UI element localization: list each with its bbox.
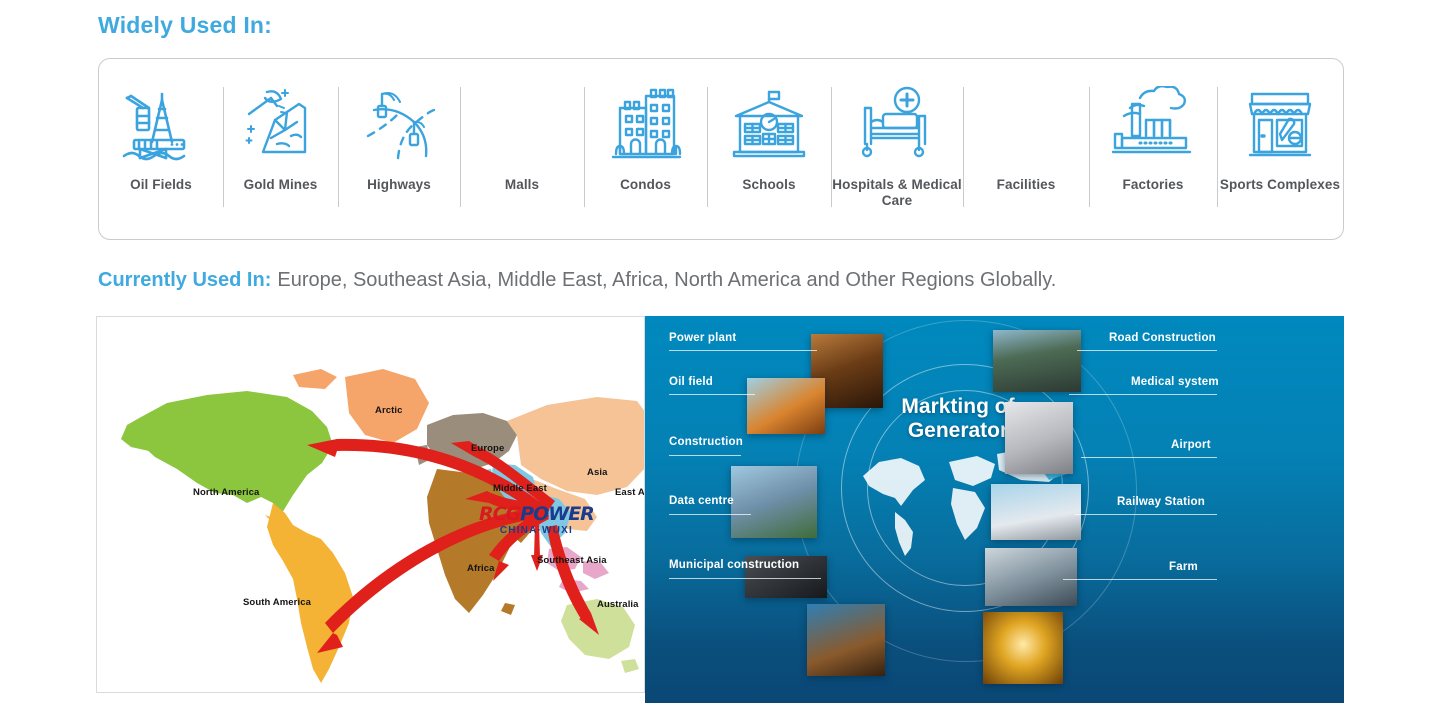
photo-oil-field xyxy=(747,378,825,434)
hospital-bed-icon xyxy=(849,85,945,163)
photo-airport xyxy=(991,484,1081,540)
map-label-europe: Europe xyxy=(471,443,504,454)
photo-municipal-construction xyxy=(807,604,885,676)
marketing-label-oil-field: Oil field xyxy=(669,376,713,388)
map-label-arctic: Arctic xyxy=(375,405,403,416)
industry-item-malls[interactable]: Malls xyxy=(460,59,584,239)
photo-medical-system xyxy=(1005,402,1073,474)
oil-rig-icon xyxy=(113,85,209,163)
map-label-north-america: North America xyxy=(193,487,259,498)
industry-label: Condos xyxy=(620,177,671,193)
marketing-label-railway-station: Railway Station xyxy=(1117,496,1205,508)
map-label-asia: Asia xyxy=(587,467,607,478)
marketing-label-road-construction: Road Construction xyxy=(1109,332,1216,344)
logo-subtitle: CHINA·WUXI xyxy=(479,526,594,536)
map-label-middle-east: Middle East xyxy=(493,483,547,494)
industry-item-oil-fields[interactable]: Oil Fields xyxy=(99,59,223,239)
highway-road-icon xyxy=(351,85,447,163)
industry-label: Sports Complexes xyxy=(1220,177,1340,193)
map-label-south-america: South America xyxy=(243,597,311,608)
marketing-label-farm: Farm xyxy=(1169,561,1198,573)
missing-icon xyxy=(474,85,570,163)
marketing-label-power-plant: Power plant xyxy=(669,332,736,344)
pickaxe-rock-icon xyxy=(233,85,329,163)
currently-used-in-value: Europe, Southeast Asia, Middle East, Afr… xyxy=(277,269,1056,291)
rule-road-construction xyxy=(1077,350,1217,351)
marketing-label-airport: Airport xyxy=(1171,439,1211,451)
photo-construction xyxy=(731,466,817,538)
rule-farm xyxy=(1063,579,1217,580)
sports-store-icon xyxy=(1232,85,1328,163)
media-row: Arctic North America South America Europ… xyxy=(96,316,1344,703)
map-label-africa: Africa xyxy=(467,563,495,574)
rule-power-plant xyxy=(669,350,817,351)
rule-medical-system xyxy=(1069,394,1217,395)
industry-label: Malls xyxy=(505,177,539,193)
industry-item-hospitals[interactable]: Hospitals & Medical Care xyxy=(831,59,963,239)
map-label-east-asia: East Asia xyxy=(615,487,645,498)
industry-item-sports-complexes[interactable]: Sports Complexes xyxy=(1217,59,1343,239)
map-label-australia: Australia xyxy=(597,599,639,610)
industry-item-facilities[interactable]: Facilities xyxy=(963,59,1089,239)
rule-municipal-construction xyxy=(669,578,821,579)
apartment-buildings-icon xyxy=(598,85,694,163)
industry-item-gold-mines[interactable]: Gold Mines xyxy=(223,59,338,239)
rcgpower-logo: RCGPOWER CHINA·WUXI xyxy=(479,505,594,536)
page-title: Widely Used In: xyxy=(98,12,272,39)
marketing-label-municipal-construction: Municipal construction xyxy=(669,559,799,571)
industry-label: Gold Mines xyxy=(244,177,318,193)
industry-item-condos[interactable]: Condos xyxy=(584,59,707,239)
marketing-label-medical-system: Medical system xyxy=(1131,376,1219,388)
industry-label: Hospitals & Medical Care xyxy=(831,177,963,209)
factory-icon xyxy=(1105,85,1201,163)
industries-panel: Oil Fields Gold Mines xyxy=(98,58,1344,240)
rule-construction xyxy=(669,455,741,456)
industry-label: Factories xyxy=(1123,177,1184,193)
logo-text-blue: POWER xyxy=(520,503,594,525)
photo-road-construction xyxy=(993,330,1081,392)
industry-label: Oil Fields xyxy=(130,177,192,193)
industry-label: Schools xyxy=(742,177,795,193)
marketing-label-construction: Construction xyxy=(669,436,743,448)
rule-railway-station xyxy=(1075,514,1217,515)
industry-item-factories[interactable]: Factories xyxy=(1089,59,1217,239)
map-label-southeast-asia: Southeast Asia xyxy=(537,555,607,566)
rule-data-centre xyxy=(669,514,751,515)
currently-used-in-label: Currently Used In: xyxy=(98,269,271,291)
logo-text-red: RCG xyxy=(479,503,520,525)
photo-railway-station xyxy=(985,548,1077,606)
industry-label: Facilities xyxy=(997,177,1056,193)
marketing-panel: Markting of Generator Power plant Oil fi… xyxy=(645,316,1344,703)
marketing-label-data-centre: Data centre xyxy=(669,495,734,507)
currently-used-in: Currently Used In:Europe, Southeast Asia… xyxy=(98,270,1056,290)
school-building-icon xyxy=(721,85,817,163)
rule-oil-field xyxy=(669,394,755,395)
industry-item-schools[interactable]: Schools xyxy=(707,59,831,239)
industry-label: Highways xyxy=(367,177,431,193)
world-map-panel: Arctic North America South America Europ… xyxy=(96,316,645,693)
missing-icon xyxy=(978,85,1074,163)
photo-farm xyxy=(983,612,1063,684)
industry-item-highways[interactable]: Highways xyxy=(338,59,460,239)
rule-airport xyxy=(1081,457,1217,458)
center-title-line1: Markting of xyxy=(901,395,1014,418)
center-title-line2: Generator xyxy=(908,419,1008,442)
